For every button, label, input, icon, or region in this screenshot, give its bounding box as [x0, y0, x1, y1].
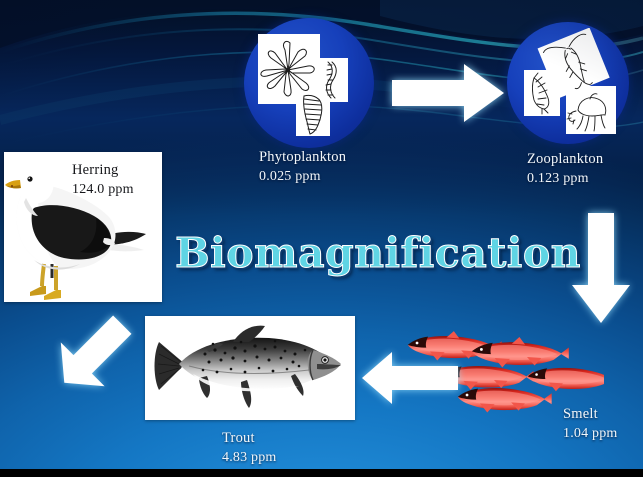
trout-name: Trout [222, 430, 255, 446]
bottom-black-bar [0, 469, 643, 477]
herring-label: Herring 124.0 ppm [72, 161, 134, 199]
herring-name: Herring [72, 162, 119, 178]
trout-label: Trout 4.83 ppm [222, 429, 277, 467]
page-title: Biomagnification [175, 229, 581, 277]
zooplankton-ppm: 0.123 ppm [527, 170, 603, 189]
zooplankton-label: Zooplankton 0.123 ppm [527, 150, 603, 188]
phytoplankton-label: Phytoplankton 0.025 ppm [259, 148, 346, 186]
zooplankton-name: Zooplankton [527, 151, 603, 167]
trout-illustration [149, 320, 351, 416]
phytoplankton-illustration [258, 30, 366, 142]
herring-ppm: 124.0 ppm [72, 181, 134, 200]
arrow-trout-to-herring [48, 306, 140, 400]
trout-ppm: 4.83 ppm [222, 449, 277, 468]
smelt-name: Smelt [563, 406, 598, 422]
phytoplankton-ppm: 0.025 ppm [259, 168, 346, 187]
arrow-phytoplankton-to-zooplankton [392, 62, 506, 124]
smelt-label: Smelt 1.04 ppm [563, 405, 618, 443]
smelt-ppm: 1.04 ppm [563, 425, 618, 444]
arrow-smelt-to-trout [360, 350, 460, 406]
zooplankton-illustration [518, 28, 622, 140]
biomagnification-diagram: Phytoplankton 0.025 ppm [0, 0, 643, 477]
phytoplankton-name: Phytoplankton [259, 149, 346, 165]
